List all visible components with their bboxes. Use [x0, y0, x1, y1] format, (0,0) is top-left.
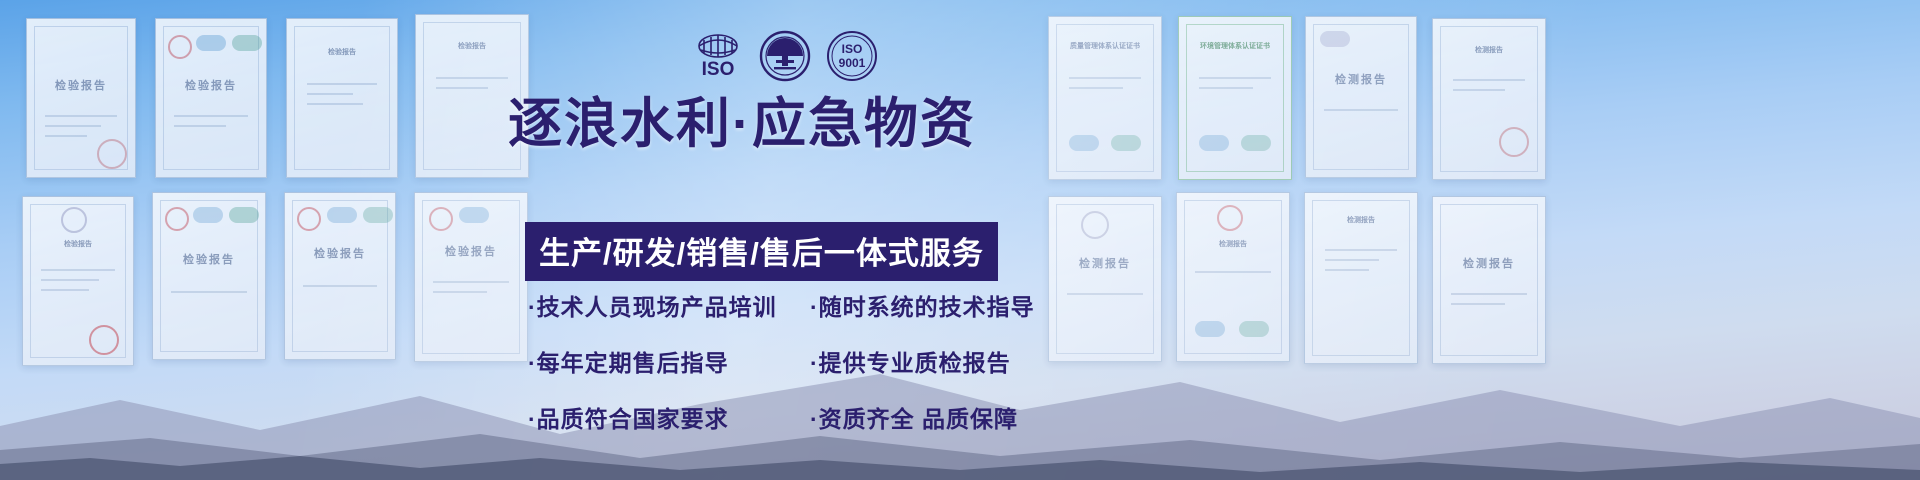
- feature-row: ·技术人员现场产品培训 ·随时系统的技术指导: [528, 288, 1068, 322]
- feature-item: ·技术人员现场产品培训: [528, 288, 810, 322]
- banner-copy: 逐浪水利·应急物资 生产/研发/销售/售后一体式服务 ·技术人员现场产品培训 ·…: [0, 0, 1920, 480]
- feature-list: ·技术人员现场产品培训 ·随时系统的技术指导 ·每年定期售后指导 ·提供专业质检…: [528, 288, 1068, 456]
- feature-row: ·品质符合国家要求 ·资质齐全 品质保障: [528, 400, 1068, 434]
- feature-row: ·每年定期售后指导 ·提供专业质检报告: [528, 344, 1068, 378]
- feature-item: ·资质齐全 品质保障: [810, 400, 1018, 434]
- feature-item: ·品质符合国家要求: [528, 400, 810, 434]
- subtitle-bar: 生产/研发/销售/售后一体式服务: [525, 222, 998, 281]
- page-title: 逐浪水利·应急物资: [508, 96, 1068, 153]
- feature-item: ·随时系统的技术指导: [810, 288, 1035, 322]
- promo-banner: 检验报告 检验报告 检验报告 检验报告: [0, 0, 1920, 480]
- subtitle-text: 生产/研发/销售/售后一体式服务: [539, 236, 984, 271]
- feature-item: ·提供专业质检报告: [810, 344, 1011, 378]
- feature-item: ·每年定期售后指导: [528, 344, 810, 378]
